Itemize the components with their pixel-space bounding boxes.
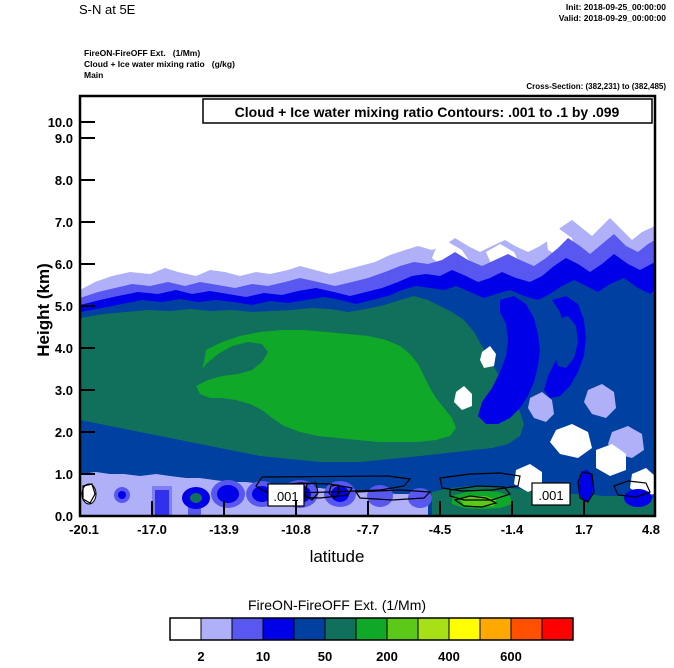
xtick-8: 4.8: [642, 522, 660, 537]
colorbar-swatch: [294, 618, 325, 640]
colorbar-swatch: [170, 618, 201, 640]
colorbar-swatch: [325, 618, 356, 640]
contour-label-right-text: .001: [538, 488, 563, 503]
colorbar-swatch: [511, 618, 542, 640]
surface-blob-k2: [331, 486, 349, 502]
surface-blob-o: [624, 489, 652, 507]
surface-blob-h2: [217, 485, 239, 503]
contour-label-left-text: .001: [273, 489, 298, 504]
y-axis-tick-labels: 0.0 1.0 2.0 3.0 4.0 5.0 6.0 7.0 8.0 9.0 …: [48, 115, 73, 524]
xtick-1: -17.0: [137, 522, 167, 537]
xtick-2: -13.9: [209, 522, 239, 537]
xtick-6: -1.4: [501, 522, 524, 537]
surface-blob-b2: [118, 491, 126, 499]
inset-title-box: Cloud + Ice water mixing ratio Contours:…: [203, 99, 652, 123]
xtick-0: -20.1: [69, 522, 99, 537]
colorbar-tick-label: 10: [256, 649, 270, 664]
colorbar-swatch: [263, 618, 294, 640]
colorbar-swatch: [201, 618, 232, 640]
ytick-1: 1.0: [55, 467, 73, 482]
ytick-10: 10.0: [48, 115, 73, 130]
inset-title-text: Cloud + Ice water mixing ratio Contours:…: [235, 104, 620, 120]
colorbar-tick-label: 600: [500, 649, 522, 664]
ytick-2: 2.0: [55, 425, 73, 440]
surface-blob-g2: [190, 493, 202, 503]
ytick-4: 4.0: [55, 341, 73, 356]
cross-section-plot: .001 .001 0.0 1.0 2.0 3.0 4.0 5.0 6.0 7.…: [0, 0, 674, 668]
ytick-8: 8.0: [55, 173, 73, 188]
colorbar-tick-label: 200: [376, 649, 398, 664]
colorbar-swatch: [232, 618, 263, 640]
colorbar-tick-label: 50: [318, 649, 332, 664]
colorbar-swatch: [356, 618, 387, 640]
ytick-6: 6.0: [55, 257, 73, 272]
colorbar-swatch: [387, 618, 418, 640]
ytick-5: 5.0: [55, 299, 73, 314]
surface-blob-c2: [152, 486, 172, 516]
colorbar-swatch: [449, 618, 480, 640]
ytick-9: 9.0: [55, 131, 73, 146]
xtick-7: 1.7: [575, 522, 593, 537]
x-axis-tick-labels: -20.1 -17.0 -13.9 -10.8 -7.7 -4.5 -1.4 1…: [69, 522, 660, 537]
contour-label-right: .001: [532, 483, 570, 505]
xtick-5: -4.5: [429, 522, 451, 537]
ytick-3: 3.0: [55, 383, 73, 398]
surface-blob-a: [82, 484, 96, 504]
xtick-4: -7.7: [357, 522, 379, 537]
contour-label-left: .001: [268, 484, 304, 506]
colorbar-swatch: [542, 618, 573, 640]
colorbar-swatch: [480, 618, 511, 640]
colorbar: 21050200400600: [170, 618, 573, 664]
ytick-7: 7.0: [55, 215, 73, 230]
colorbar-tick-label: 400: [438, 649, 460, 664]
colorbar-swatch: [418, 618, 449, 640]
xtick-3: -10.8: [281, 522, 311, 537]
colorbar-tick-label: 2: [197, 649, 204, 664]
